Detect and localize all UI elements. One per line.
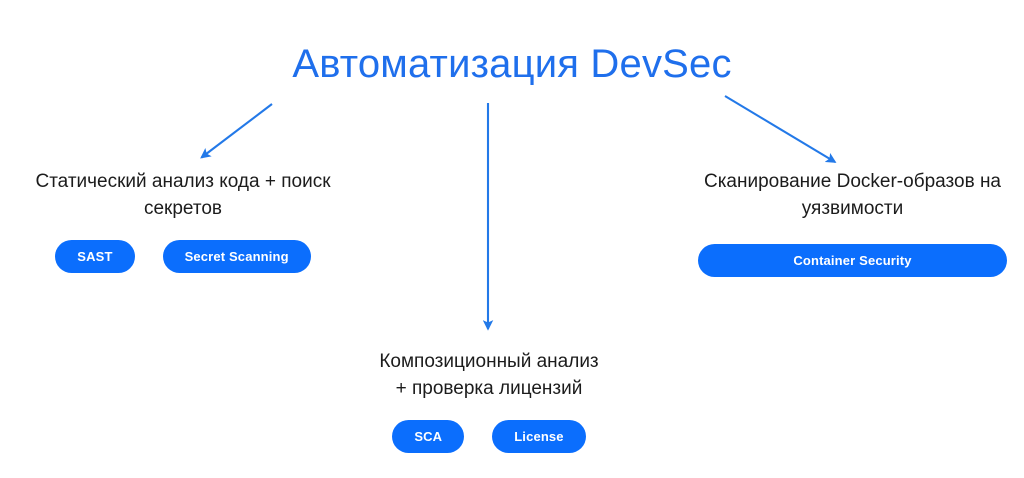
branch-sca-caption: Композиционный анализ + проверка лицензи… (322, 348, 656, 402)
branch-sca-badges: SCA License (322, 420, 656, 453)
badge-secret-scanning[interactable]: Secret Scanning (163, 240, 311, 273)
badge-sast[interactable]: SAST (55, 240, 134, 273)
branch-sast: Статический анализ кода + поиск секретов… (0, 168, 366, 273)
badge-sca[interactable]: SCA (392, 420, 464, 453)
page-title: Автоматизация DevSec (0, 42, 1024, 87)
badge-container-security[interactable]: Container Security (698, 244, 1007, 277)
branch-container: Сканирование Docker-образов на уязвимост… (660, 168, 1024, 277)
branch-sast-badges: SAST Secret Scanning (0, 240, 366, 273)
badge-license[interactable]: License (492, 420, 585, 453)
diagram-canvas: Автоматизация DevSec Статический анализ … (0, 0, 1024, 478)
arrow-to-container (725, 96, 835, 162)
branch-sca: Композиционный анализ + проверка лицензи… (322, 348, 656, 453)
branch-container-caption: Сканирование Docker-образов на уязвимост… (660, 168, 1024, 222)
branch-sast-caption: Статический анализ кода + поиск секретов (0, 168, 366, 222)
arrow-to-sast (202, 104, 273, 158)
branch-container-badges: Container Security (660, 244, 1024, 277)
